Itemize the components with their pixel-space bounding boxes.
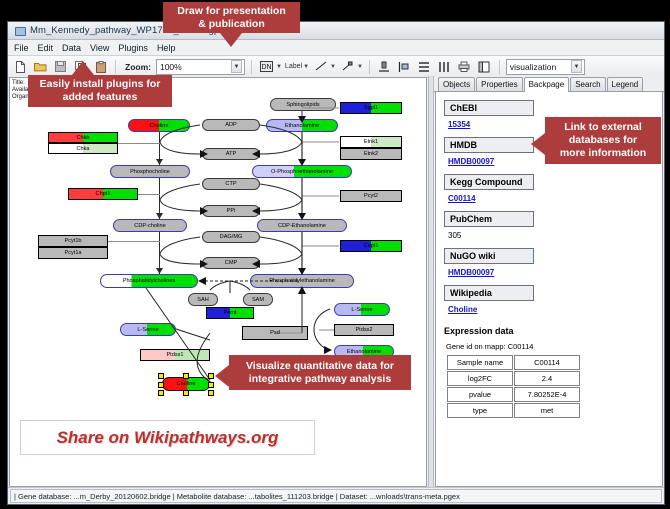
db-header-pubchem: PubChem <box>444 211 534 227</box>
callout-draw-line2: & publication <box>198 18 265 31</box>
db-link-wikipedia[interactable]: Choline <box>448 305 662 314</box>
tab-legend[interactable]: Legend <box>607 77 644 91</box>
open-folder-icon[interactable] <box>32 58 49 75</box>
cell-label: type <box>447 403 513 418</box>
visualization-value: visualization <box>510 62 556 72</box>
tab-objects[interactable]: Objects <box>438 77 475 91</box>
db-link-kegg-compound[interactable]: C00114 <box>448 194 662 203</box>
menu-item-help[interactable]: Help <box>157 43 176 53</box>
node-label: DAG/MG <box>220 234 243 240</box>
node-label: SAH <box>197 297 209 303</box>
svg-text:DN: DN <box>261 64 271 71</box>
callout-link-line3: more information <box>560 147 646 160</box>
node-label: Pcyt1b <box>64 238 81 244</box>
node-label: Pcyt1a <box>64 250 81 256</box>
save-icon[interactable] <box>52 58 69 75</box>
status-text: | Gene database: ...m_Derby_20120602.bri… <box>14 492 460 501</box>
sidebar-icon[interactable] <box>476 58 493 75</box>
selection-handle[interactable] <box>208 373 214 379</box>
side-pane-tabs: Objects Properties Backpage Search Legen… <box>434 76 664 92</box>
node-label: ATP <box>226 151 236 157</box>
node-label: Sgpl1 <box>364 105 378 111</box>
selection-handle[interactable] <box>158 382 164 388</box>
status-bar: | Gene database: ...m_Derby_20120602.bri… <box>8 487 664 504</box>
callout-visualize-line2: integrative pathway analysis <box>249 373 391 386</box>
node-label: CMP <box>225 260 237 266</box>
node-label: O-Phosphoethanolamine <box>271 169 333 175</box>
node-label: Chpt1 <box>96 191 111 197</box>
db-header-wikipedia: Wikipedia <box>444 285 534 301</box>
new-file-icon[interactable] <box>12 58 29 75</box>
cell-label: pvalue <box>447 387 513 402</box>
cell-label: log2FC <box>447 371 513 386</box>
selection-handle[interactable] <box>183 373 189 379</box>
node-label: Ptdss2 <box>355 327 372 333</box>
line-icon[interactable] <box>312 58 329 75</box>
tab-search[interactable]: Search <box>570 77 605 91</box>
zoom-value: 100% <box>160 62 182 72</box>
db-link-nugo-wiki[interactable]: HMDB00097 <box>448 268 662 277</box>
toolbar-separator-2 <box>251 60 252 74</box>
chevron-down-icon[interactable]: ▼ <box>303 64 309 70</box>
callout-draw-arrow-icon <box>220 33 242 47</box>
app-window-icon <box>14 25 25 36</box>
tab-properties[interactable]: Properties <box>476 77 522 91</box>
node-label: Chkb <box>76 135 89 141</box>
node-label: L-Serine <box>351 307 372 313</box>
selection-handle[interactable] <box>158 390 164 396</box>
share-text: Share on Wikipathways.org <box>57 428 279 448</box>
cell-value: C00114 <box>514 355 580 370</box>
selection-handle[interactable] <box>183 390 189 396</box>
selection-handle[interactable] <box>158 373 164 379</box>
callout-draw-line1: Draw for presentation <box>177 5 286 18</box>
label-tool-label: Label <box>285 63 302 70</box>
cell-value: 7.80252E-4 <box>514 387 580 402</box>
menu-item-plugins[interactable]: Plugins <box>118 43 148 53</box>
menu-item-file[interactable]: File <box>14 43 29 53</box>
node-label: CDP-choline <box>134 223 165 229</box>
node-label: Phosphocholine <box>130 169 170 175</box>
toolbar-separator <box>115 60 116 74</box>
node-label: Pcyt2 <box>364 193 378 199</box>
label-tool[interactable]: Label ▼ <box>285 63 309 70</box>
stack-icon[interactable] <box>416 58 433 75</box>
callout-link-databases: Link to external databases for more info… <box>545 117 661 164</box>
callout-plugins-line2: added features <box>63 91 138 104</box>
selection-handle[interactable] <box>208 390 214 396</box>
table-row: Sample name C00114 <box>447 355 580 370</box>
paste-icon[interactable] <box>92 58 109 75</box>
chevron-down-icon[interactable]: ▼ <box>330 64 336 70</box>
menu-item-view[interactable]: View <box>90 43 109 53</box>
callout-share-wikipathways: Share on Wikipathways.org <box>20 420 315 455</box>
callout-plugins-arrow-icon <box>72 61 94 75</box>
db-value-pubchem: 305 <box>448 231 662 240</box>
table-row: pvalue 7.80252E-4 <box>447 387 580 402</box>
receptor-tool[interactable]: ▼ <box>339 58 363 75</box>
db-header-kegg-compound: Kegg Compound <box>444 174 534 190</box>
expression-data-heading: Expression data <box>444 326 662 336</box>
menu-item-data[interactable]: Data <box>62 43 81 53</box>
zoom-label: Zoom: <box>125 62 151 72</box>
expression-table: Sample name C00114 log2FC 2.4 pvalue 7.8… <box>446 354 581 419</box>
cell-label: Sample name <box>447 355 513 370</box>
status-bar-inner: | Gene database: ...m_Derby_20120602.bri… <box>10 489 662 503</box>
cell-value: 2.4 <box>514 371 580 386</box>
title-bar: Mm_Kennedy_pathway_WP1771_45176.gpml <box>8 22 664 40</box>
db-header-chebi: ChEBI <box>444 100 534 116</box>
node-label: L-Serine <box>137 327 158 333</box>
chevron-down-icon[interactable]: ▼ <box>231 60 242 73</box>
menu-bar: File Edit Data View Plugins Help <box>8 40 664 56</box>
callout-draw: Draw for presentation & publication <box>163 2 300 33</box>
node-label: Choline <box>177 381 196 387</box>
node-label: PPi <box>227 208 236 214</box>
callout-link-arrow-icon <box>531 133 545 155</box>
callout-link-line2: databases for <box>569 134 637 147</box>
callout-visualize-arrow-icon <box>215 365 229 387</box>
datanode-tool[interactable]: DN ▼ <box>258 58 282 75</box>
toolbar-separator-3 <box>369 60 370 74</box>
menu-item-edit[interactable]: Edit <box>38 43 54 53</box>
callout-plugins-line1: Easily install plugins for <box>40 78 161 91</box>
zoom-combobox[interactable]: 100% ▼ <box>156 59 245 75</box>
screenshot-root: Mm_Kennedy_pathway_WP1771_45176.gpml Fil… <box>0 0 670 509</box>
db-header-hmdb: HMDB <box>444 137 534 153</box>
node-label: CTP <box>225 181 236 187</box>
table-row: type met <box>447 403 580 418</box>
chevron-down-icon[interactable]: ▼ <box>357 64 363 70</box>
node-label: Etnk2 <box>364 151 378 157</box>
node-label: Etnk1 <box>364 139 378 145</box>
node-label: Ethanolamine <box>347 349 381 355</box>
node-label: SAM <box>252 297 264 303</box>
node-label: Ethanolamine <box>285 123 319 129</box>
align-bottom-icon[interactable] <box>376 58 393 75</box>
node-label: Chka <box>76 146 89 152</box>
callout-plugins: Easily install plugins for added feature… <box>28 75 172 107</box>
node-label: Phosphatidylethanolamine <box>269 278 335 284</box>
table-row: log2FC 2.4 <box>447 371 580 386</box>
distribute-icon[interactable] <box>436 58 453 75</box>
callout-visualize-line1: Visualize quantitative data for <box>246 360 394 373</box>
db-header-nugo-wiki: NuGO wiki <box>444 248 534 264</box>
selection-handle[interactable] <box>208 382 214 388</box>
callout-link-line1: Link to external <box>564 121 642 134</box>
cell-value: met <box>514 403 580 418</box>
chevron-down-icon[interactable]: ▼ <box>571 60 582 73</box>
callout-visualize: Visualize quantitative data for integrat… <box>229 355 411 390</box>
chevron-down-icon[interactable]: ▼ <box>276 64 282 70</box>
node-label: Phosphatidylcholines <box>123 278 176 284</box>
print-icon[interactable] <box>456 58 473 75</box>
node-label: Ptdss1 <box>166 352 183 358</box>
node-label: CDP-Ethanolamine <box>278 223 326 229</box>
datanode-icon[interactable]: DN <box>258 58 275 75</box>
node-label: Cept1 <box>364 243 379 249</box>
line-tool[interactable]: ▼ <box>312 58 336 75</box>
gene-id-line: Gene id on mapp: C00114 <box>446 342 662 351</box>
node-label: ADP <box>225 122 237 128</box>
align-left-icon[interactable] <box>396 58 413 75</box>
node-label: Choline <box>150 123 169 129</box>
visualization-combobox[interactable]: visualization ▼ <box>506 59 585 75</box>
node-label: Psd <box>270 330 280 336</box>
node-label: Pemt <box>223 310 236 316</box>
tab-backpage[interactable]: Backpage <box>524 77 570 92</box>
toolbar-separator-4 <box>499 60 500 74</box>
node-label: Sphingolipids <box>286 102 319 108</box>
receptor-icon[interactable] <box>339 58 356 75</box>
